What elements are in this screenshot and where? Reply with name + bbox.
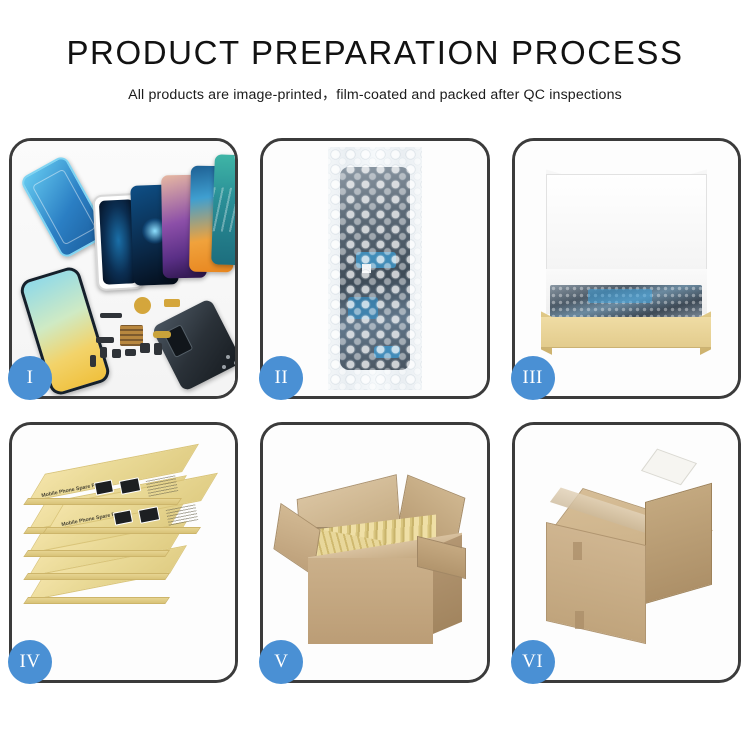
box-front-face — [23, 597, 170, 604]
carton-seam-upper — [573, 542, 582, 560]
box-front-face — [23, 573, 170, 580]
screw-1 — [226, 355, 230, 359]
header: PRODUCT PREPARATION PROCESS All products… — [0, 0, 750, 104]
box-front-face — [23, 498, 181, 505]
step-1-badge: I — [8, 356, 52, 400]
part-bracket-left — [96, 337, 114, 343]
step-5-image — [263, 425, 486, 680]
process-step-5: V — [260, 422, 489, 683]
part-speaker-coil — [134, 297, 151, 314]
screw-3 — [222, 365, 226, 369]
page-subtitle: All products are image-printed，film-coat… — [0, 84, 750, 104]
step-6-badge: VI — [511, 640, 555, 684]
part-flex-cable — [153, 331, 171, 338]
part-sim-tray — [90, 355, 96, 367]
part-camera-module — [140, 343, 150, 353]
process-step-1: I — [9, 138, 238, 399]
process-step-grid: I II — [9, 138, 741, 683]
box-label-phone-image-2 — [138, 507, 160, 524]
step-6-image — [515, 425, 738, 680]
box-lid-back — [546, 174, 707, 281]
step-1-image — [12, 141, 235, 396]
box-front-face — [23, 550, 170, 557]
step-5-badge: V — [259, 640, 303, 684]
stacked-box-top-labeled: Mobile Phone Spare Parts — [28, 477, 182, 502]
process-step-6: VI — [512, 422, 741, 683]
sealed-carton-side-face — [645, 482, 712, 603]
box-front-face — [42, 527, 200, 534]
step-4-image: Mobile Phone Spare Parts Mobile Phone Sp… — [12, 425, 235, 680]
page-title: PRODUCT PREPARATION PROCESS — [0, 36, 750, 71]
step-4-badge: IV — [8, 640, 52, 684]
part-battery-small — [154, 343, 162, 355]
box-label-phone-image-3 — [94, 480, 115, 496]
box-label-spec-lines — [165, 504, 198, 525]
box-base-front — [541, 317, 711, 348]
bubble-texture — [550, 285, 702, 318]
phone-screen-teal — [211, 154, 235, 265]
carton-front-face — [308, 558, 433, 645]
screw-2 — [234, 361, 235, 365]
box-stack: Mobile Phone Spare Parts Mobile Phone Sp… — [28, 456, 220, 650]
process-step-3: III — [512, 138, 741, 399]
part-bar — [100, 313, 122, 318]
part-connector-a — [100, 347, 107, 358]
part-connector-b — [112, 349, 121, 358]
carton-seam-lower — [575, 611, 584, 629]
bubble-pattern-back — [328, 147, 422, 390]
step-3-image — [515, 141, 738, 396]
part-button-set — [125, 349, 136, 356]
product-preparation-infographic: PRODUCT PREPARATION PROCESS All products… — [0, 0, 750, 750]
part-flex-gold — [164, 299, 180, 307]
step-3-badge: III — [511, 356, 555, 400]
step-2-image — [263, 141, 486, 396]
box-label-phone-image-4 — [119, 478, 141, 495]
box-label-phone-image-1 — [113, 509, 134, 525]
tape-loose-end — [641, 449, 697, 486]
process-step-2: II — [260, 138, 489, 399]
step-2-badge: II — [259, 356, 303, 400]
process-step-4: Mobile Phone Spare Parts Mobile Phone Sp… — [9, 422, 238, 683]
stacked-box-front-labeled: Mobile Phone Spare Parts — [47, 506, 201, 531]
wrapped-item-in-box — [550, 285, 702, 318]
box-label-spec-lines-top — [146, 475, 179, 496]
